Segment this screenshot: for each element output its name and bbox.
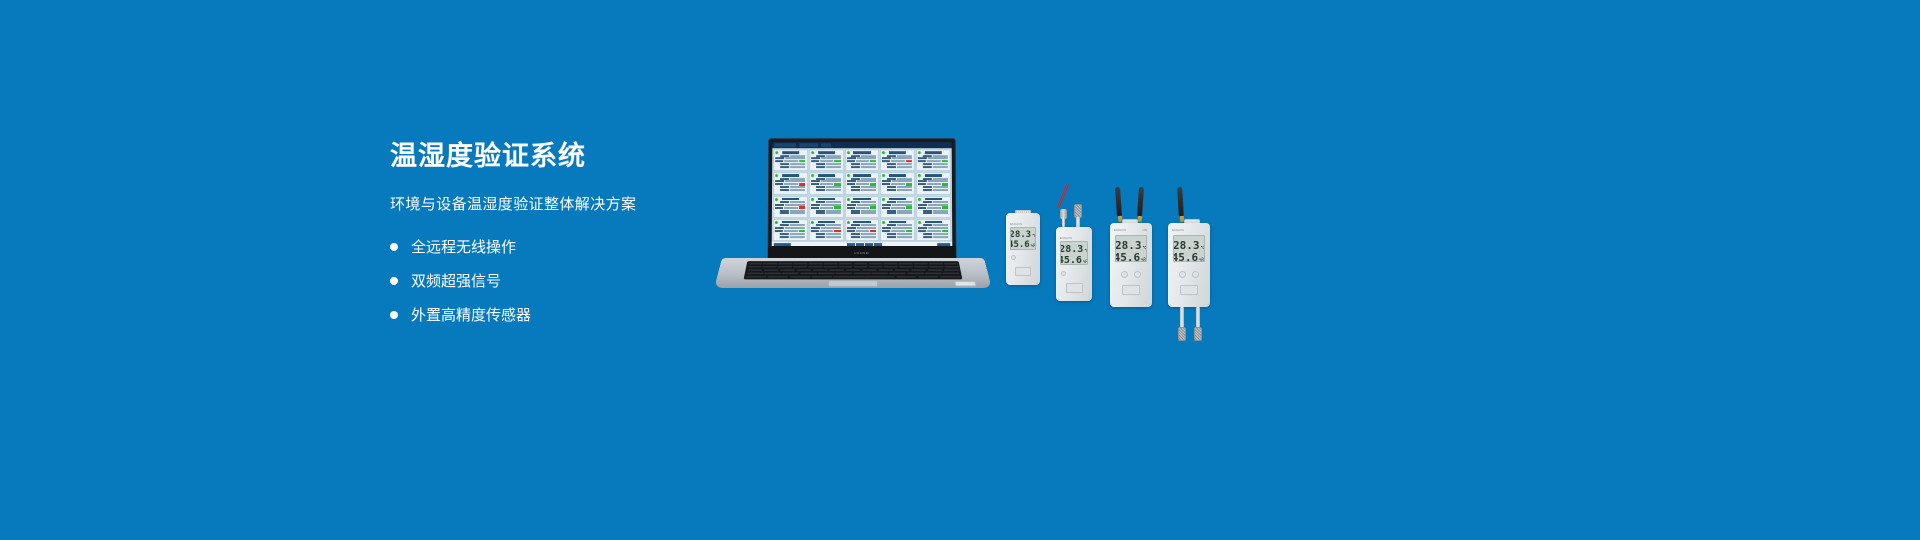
field-label <box>887 224 896 226</box>
keyboard-key[interactable] <box>845 269 860 271</box>
field-label <box>851 189 860 191</box>
field-value <box>891 207 904 209</box>
field-label <box>851 210 860 212</box>
device-up-button[interactable] <box>1121 271 1128 278</box>
field-label <box>918 227 927 229</box>
field-label <box>815 233 824 235</box>
field-label <box>816 189 825 191</box>
normal-badge <box>942 183 948 185</box>
keyboard-key[interactable] <box>746 272 763 274</box>
panel-title <box>853 151 870 153</box>
device-power-button[interactable] <box>1011 255 1016 260</box>
keyboard-key[interactable] <box>778 262 792 264</box>
keyboard-key[interactable] <box>944 269 960 271</box>
device-down-button[interactable] <box>1192 271 1199 278</box>
field-value <box>927 207 940 209</box>
field-value <box>933 224 948 226</box>
normal-badge <box>942 206 948 209</box>
keyboard-key[interactable] <box>782 272 799 274</box>
field-label <box>811 180 820 182</box>
field-label <box>847 157 856 159</box>
keyboard-key[interactable] <box>896 276 917 278</box>
field-label <box>780 212 789 214</box>
panel-field-row <box>775 224 805 226</box>
field-label <box>811 207 819 209</box>
field-label <box>887 166 896 168</box>
field-label <box>815 236 824 238</box>
field-label <box>816 212 825 214</box>
field-label <box>775 227 784 229</box>
panel-field-row <box>882 236 912 238</box>
panel-field-row <box>811 183 841 185</box>
field-label <box>775 160 783 162</box>
humidity-reading: 45.6 %RH <box>1061 256 1087 265</box>
alarm-badge <box>834 230 840 233</box>
field-label <box>887 236 896 238</box>
keyboard-key[interactable] <box>914 262 928 264</box>
field-value <box>861 189 876 191</box>
field-label <box>811 183 819 185</box>
panel-field-row <box>811 189 841 191</box>
field-value <box>826 189 841 191</box>
normal-badge <box>942 230 948 233</box>
antenna-icon <box>1115 187 1122 217</box>
panel-title <box>853 174 870 176</box>
field-value <box>790 210 805 212</box>
keyboard-key[interactable] <box>763 262 777 264</box>
field-label <box>775 180 784 182</box>
field-label <box>851 236 860 238</box>
panel-field-row <box>882 206 912 209</box>
field-value <box>820 183 833 185</box>
keyboard-key[interactable] <box>899 262 913 264</box>
keyboard-key[interactable] <box>927 269 943 271</box>
keyboard-key[interactable] <box>943 272 960 274</box>
device-function-button[interactable] <box>1122 285 1140 295</box>
status-led-icon <box>847 221 850 224</box>
device-lcd-display: 28.3 ℃ 45.6 %RH <box>1060 241 1088 265</box>
antenna-icon <box>1137 187 1144 217</box>
app-menu-item-settings[interactable] <box>821 143 831 147</box>
keyboard-key[interactable] <box>929 262 943 264</box>
panel-field-row <box>847 183 877 185</box>
field-label <box>923 236 932 238</box>
field-value <box>933 236 948 238</box>
panel-field-row <box>882 230 912 233</box>
normal-badge <box>834 160 840 162</box>
device-panel[interactable] <box>880 172 915 194</box>
device-brand-label: ENGON <box>1172 228 1184 232</box>
keyboard-key[interactable] <box>940 276 961 278</box>
field-label <box>887 210 896 212</box>
field-label <box>847 230 855 232</box>
normal-badge <box>870 183 876 185</box>
panel-field-row <box>918 206 948 209</box>
panel-field-row <box>918 160 948 162</box>
panel-field-row <box>847 189 877 191</box>
keyboard-key[interactable] <box>764 272 781 274</box>
keyboard-key[interactable] <box>800 272 817 274</box>
field-value <box>820 160 833 162</box>
laptop-keyboard[interactable] <box>744 261 963 279</box>
field-value <box>784 207 797 209</box>
field-label <box>847 160 855 162</box>
device-grid <box>773 149 952 241</box>
field-value <box>891 183 904 185</box>
keyboard-key[interactable] <box>833 276 895 278</box>
keyboard-key[interactable] <box>793 266 807 268</box>
status-led-icon <box>775 221 778 224</box>
field-value <box>897 236 912 238</box>
field-value <box>861 212 876 214</box>
panel-field-row <box>811 160 841 162</box>
list-item: 双频超强信号 <box>390 270 770 291</box>
panel-field-row <box>775 210 805 212</box>
keyboard-key[interactable] <box>808 266 822 268</box>
normal-badge <box>906 230 912 233</box>
field-label <box>882 180 891 182</box>
keyboard-key[interactable] <box>763 266 777 268</box>
field-value <box>790 224 805 226</box>
device-panel[interactable] <box>809 172 844 194</box>
panel-field-row <box>882 189 912 191</box>
panel-title <box>889 151 906 153</box>
field-label <box>923 224 932 226</box>
field-label <box>918 204 927 206</box>
field-label <box>847 183 855 185</box>
keyboard-row <box>747 269 959 271</box>
device-wireless-probe-logger: ENGON 28.3 ℃ 45.6 %RH <box>1168 187 1210 307</box>
device-down-button[interactable] <box>1134 271 1141 278</box>
status-led-icon <box>811 151 814 154</box>
keyboard-key[interactable] <box>823 262 837 264</box>
panel-field-row <box>847 166 877 168</box>
field-label <box>775 183 783 185</box>
keyboard-key[interactable] <box>907 272 924 274</box>
keyboard-key[interactable] <box>854 262 868 264</box>
field-value <box>861 224 876 226</box>
panel-field-row <box>847 224 877 226</box>
temperature-reading: 28.3 ℃ <box>1116 240 1146 251</box>
field-value <box>790 233 805 235</box>
panel-field-row <box>811 210 841 212</box>
device-power-button[interactable] <box>1061 271 1066 276</box>
device-grid-wrapper <box>772 148 953 242</box>
keyboard-key[interactable] <box>929 266 943 268</box>
field-value <box>897 212 912 214</box>
panel-field-row <box>847 233 877 235</box>
field-label <box>775 207 783 209</box>
field-label <box>918 160 926 162</box>
laptop-sticker <box>954 281 976 286</box>
panel-field-row <box>918 224 948 226</box>
device-body: ENGON 28.3 ℃ 45.6 %RH <box>1168 223 1210 307</box>
field-label <box>811 157 820 159</box>
field-label <box>847 204 856 206</box>
panel-title <box>925 151 942 153</box>
device-panel[interactable] <box>809 196 844 218</box>
keyboard-key[interactable] <box>878 269 893 271</box>
keyboard-key[interactable] <box>914 266 928 268</box>
status-led-icon <box>775 198 778 201</box>
field-value <box>790 212 805 214</box>
device-panel[interactable] <box>916 149 951 171</box>
panel-field-row <box>811 166 841 168</box>
field-label <box>882 204 891 206</box>
status-led-icon <box>811 221 814 224</box>
panel-field-row <box>882 160 912 162</box>
keyboard-key[interactable] <box>836 272 853 274</box>
keyboard-key[interactable] <box>884 266 898 268</box>
field-label <box>887 233 896 235</box>
keyboard-key[interactable] <box>889 272 906 274</box>
field-label <box>923 166 932 168</box>
keyboard-key[interactable] <box>747 266 761 268</box>
device-panel[interactable] <box>845 219 880 241</box>
device-brand-label: ENGON <box>1114 228 1126 232</box>
panel-title <box>925 221 942 224</box>
field-label <box>811 227 820 229</box>
device-brand-label: ENGON <box>1060 236 1072 240</box>
panel-field-row <box>918 210 948 212</box>
panel-field-row <box>775 230 805 233</box>
field-label <box>780 233 789 235</box>
panel-field-row <box>775 236 805 238</box>
antenna-icon <box>1177 187 1184 217</box>
device-function-button[interactable] <box>1066 283 1083 293</box>
field-label <box>882 227 891 229</box>
field-label <box>811 204 820 206</box>
device-up-button[interactable] <box>1179 271 1186 278</box>
external-probe-stem <box>1196 307 1200 329</box>
keyboard-key[interactable] <box>854 272 871 274</box>
field-label <box>851 224 860 226</box>
device-panel[interactable] <box>880 219 915 241</box>
keyboard-key[interactable] <box>899 266 913 268</box>
field-label <box>780 210 789 212</box>
device-panel[interactable] <box>773 219 808 241</box>
field-label <box>882 160 890 162</box>
keyboard-key[interactable] <box>839 262 853 264</box>
humidity-reading: 45.6 %RH <box>1116 252 1146 262</box>
keyboard-key[interactable] <box>813 269 828 271</box>
field-label <box>816 224 825 226</box>
humidity-reading: 45.6 %RH <box>1011 241 1035 250</box>
field-value <box>790 166 805 168</box>
keyboard-key[interactable] <box>796 269 811 271</box>
keyboard-key[interactable] <box>838 266 852 268</box>
panel-title <box>782 151 799 153</box>
device-panel[interactable] <box>880 149 915 171</box>
keyboard-key[interactable] <box>869 262 883 264</box>
field-label <box>816 210 825 212</box>
field-label <box>882 157 891 159</box>
status-led-icon <box>775 151 778 154</box>
keyboard-key[interactable] <box>747 269 763 271</box>
field-label <box>882 207 890 209</box>
device-panel[interactable] <box>809 149 844 171</box>
app-menu-item-devices[interactable] <box>774 143 796 147</box>
status-led-icon <box>847 151 850 154</box>
product-banner: 温湿度验证系统 环境与设备温湿度验证整体解决方案 全远程无线操作 双频超强信号 … <box>0 0 1920 540</box>
panel-title <box>925 174 942 176</box>
keyboard-key[interactable] <box>823 266 837 268</box>
panel-field-row <box>847 206 877 209</box>
feature-label: 全远程无线操作 <box>411 236 516 257</box>
panel-field-row <box>847 230 877 233</box>
panel-field-row <box>882 224 912 226</box>
panel-field-row <box>882 166 912 168</box>
panel-field-row <box>811 212 841 214</box>
keyboard-key[interactable] <box>789 276 810 278</box>
normal-badge <box>870 160 876 162</box>
field-value <box>784 183 797 185</box>
panel-field-row <box>811 206 841 209</box>
field-label <box>882 230 890 232</box>
field-value <box>826 233 841 235</box>
field-label <box>847 227 856 229</box>
keyboard-key[interactable] <box>829 269 844 271</box>
field-value <box>856 230 869 232</box>
keyboard-key[interactable] <box>925 272 942 274</box>
field-value <box>861 233 876 235</box>
keyboard-key[interactable] <box>918 276 939 278</box>
laptop-screen <box>772 142 953 249</box>
device-panel[interactable] <box>809 219 844 241</box>
bullet-dot-icon <box>390 311 398 319</box>
field-value <box>820 207 833 209</box>
panel-field-row <box>882 212 912 214</box>
panel-title <box>782 198 799 200</box>
panel-field-row <box>847 212 877 214</box>
device-panel[interactable] <box>916 172 951 194</box>
device-panel[interactable] <box>773 172 808 194</box>
keyboard-key[interactable] <box>862 269 877 271</box>
field-value <box>826 224 841 226</box>
keyboard-key[interactable] <box>869 266 883 268</box>
keyboard-key[interactable] <box>911 269 926 271</box>
keyboard-key[interactable] <box>854 266 868 268</box>
bullet-dot-icon <box>390 243 398 251</box>
keyboard-key[interactable] <box>767 276 788 278</box>
field-label <box>918 207 926 209</box>
device-panel[interactable] <box>845 196 880 218</box>
device-panel[interactable] <box>845 172 880 194</box>
panel-field-row <box>775 166 805 168</box>
device-panel[interactable] <box>773 149 808 171</box>
panel-field-row <box>918 236 948 238</box>
device-lcd-display: 28.3 ℃ 45.6 %RH <box>1115 235 1147 262</box>
temperature-reading: 28.3 ℃ <box>1011 231 1035 240</box>
field-label <box>847 180 856 182</box>
field-label <box>851 212 860 214</box>
field-value <box>826 166 841 168</box>
status-led-icon <box>918 198 921 201</box>
panel-title <box>853 198 870 200</box>
panel-field-row <box>882 210 912 212</box>
laptop-base <box>714 258 991 288</box>
keyboard-key[interactable] <box>884 262 898 264</box>
field-label <box>918 230 926 232</box>
banner-text-block: 温湿度验证系统 环境与设备温湿度验证整体解决方案 全远程无线操作 双频超强信号 … <box>390 140 770 338</box>
sensor-filter-cap <box>1178 327 1186 341</box>
panel-field-row <box>847 160 877 162</box>
alarm-badge <box>799 183 805 185</box>
panel-field-row <box>847 236 877 238</box>
field-value <box>826 210 841 212</box>
device-panel[interactable] <box>916 219 951 241</box>
field-value <box>897 233 912 235</box>
device-panel[interactable] <box>880 196 915 218</box>
humidity-reading: 45.6 %RH <box>1174 252 1204 262</box>
panel-title <box>782 221 799 224</box>
keyboard-key[interactable] <box>818 272 835 274</box>
device-panel[interactable] <box>845 149 880 171</box>
field-value <box>933 166 948 168</box>
page-title: 温湿度验证系统 <box>390 140 770 172</box>
panel-field-row <box>918 166 948 168</box>
keyboard-key[interactable] <box>944 266 958 268</box>
field-label <box>780 224 789 226</box>
keyboard-key[interactable] <box>748 262 762 264</box>
panel-field-row <box>775 189 805 191</box>
keyboard-key[interactable] <box>745 276 766 278</box>
field-label <box>918 183 926 185</box>
feature-label: 双频超强信号 <box>411 270 501 291</box>
keyboard-key[interactable] <box>793 262 807 264</box>
panel-field-row <box>882 183 912 185</box>
normal-badge <box>798 230 804 233</box>
normal-badge <box>834 183 840 185</box>
external-probe-stem <box>1180 307 1184 329</box>
device-function-button[interactable] <box>1015 267 1031 276</box>
field-value <box>790 236 805 238</box>
field-label <box>923 233 932 235</box>
field-label <box>775 157 784 159</box>
sensor-filter-cap <box>1194 327 1202 341</box>
normal-badge <box>799 160 805 162</box>
device-panel[interactable] <box>916 196 951 218</box>
laptop-brand-label: HUAWEI <box>854 251 870 255</box>
alarm-badge <box>870 230 876 233</box>
device-function-button[interactable] <box>1180 285 1198 295</box>
panel-field-row <box>775 206 805 209</box>
list-item: 外置高精度传感器 <box>390 304 770 325</box>
feature-list: 全远程无线操作 双频超强信号 外置高精度传感器 <box>390 236 770 325</box>
device-panel[interactable] <box>773 196 808 218</box>
panel-field-row <box>775 160 805 162</box>
keyboard-row <box>747 266 958 268</box>
app-menu-item-records[interactable] <box>799 143 818 147</box>
panel-field-row <box>775 212 805 214</box>
keyboard-key[interactable] <box>780 269 795 271</box>
keyboard-key[interactable] <box>778 266 792 268</box>
keyboard-key[interactable] <box>808 262 822 264</box>
device-body: ENGON NB 28.3 ℃ 45.6 %RH <box>1110 223 1152 307</box>
field-label <box>923 189 932 191</box>
keyboard-key[interactable] <box>895 269 910 271</box>
normal-badge <box>870 206 876 209</box>
keyboard-row <box>748 262 958 264</box>
field-value <box>897 210 912 212</box>
laptop-trackpad[interactable] <box>829 281 878 286</box>
keyboard-key[interactable] <box>871 272 888 274</box>
keyboard-key[interactable] <box>811 276 832 278</box>
panel-field-row <box>775 183 805 185</box>
keyboard-key[interactable] <box>763 269 779 271</box>
keyboard-key[interactable] <box>944 262 958 264</box>
field-value <box>927 160 940 162</box>
